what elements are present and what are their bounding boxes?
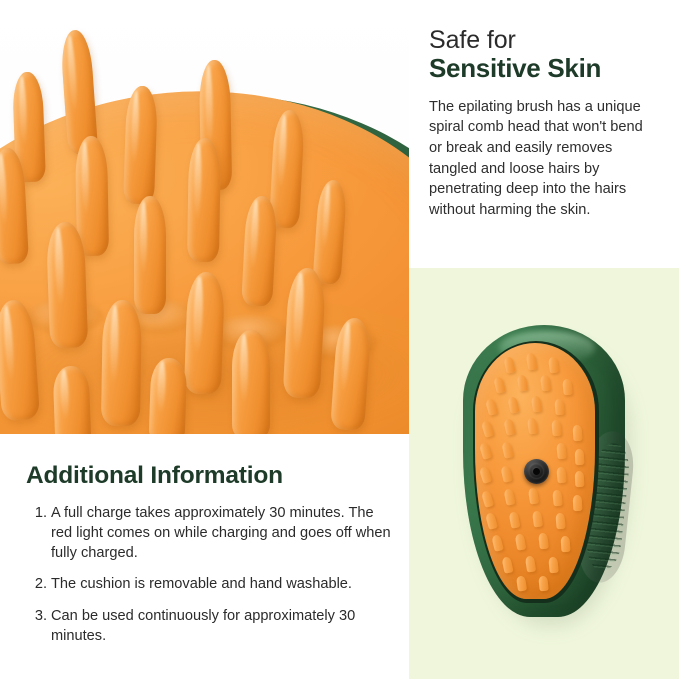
steam-brush-product [463,325,631,625]
bristle [516,575,527,591]
bristle [184,271,225,394]
list-item-number: 3. [26,606,47,626]
bristle [485,512,498,530]
list-item-text: A full charge takes approximately 30 min… [51,505,391,561]
bristle [540,374,551,391]
bristle [503,418,515,436]
bristle [509,511,521,528]
bristle [575,449,585,465]
bristle [562,379,573,396]
bristle [554,399,565,416]
sensitive-skin-panel: Safe for Sensitive Skin The epilating br… [409,0,679,268]
bristle [552,490,563,507]
brush-closeup-photo [0,0,409,434]
list-item-text: Can be used continuously for approximate… [51,608,355,644]
bristle [479,442,493,460]
bristle [551,420,562,437]
bristle [555,513,565,530]
bristle [503,356,515,374]
bristle [538,576,549,592]
bristle [134,196,166,314]
bristle [532,510,543,527]
list-item-number: 2. [26,574,47,594]
bristle [123,85,158,204]
infographic-page: Safe for Sensitive Skin The epilating br… [0,0,679,679]
steam-nozzle [524,459,549,484]
bristle [500,465,512,483]
bristle [527,417,538,434]
bristle [479,466,493,484]
bristle [53,365,92,434]
page-title: Additional Information [26,462,391,490]
bristle [503,488,515,506]
bristle [481,490,494,508]
headline-text: Sensitive Skin [429,54,655,83]
bristle [538,533,549,550]
body-paragraph: The epilating brush has a unique spiral … [429,97,655,221]
list-item: 1. A full charge takes approximately 30 … [26,503,391,563]
list-item: 2. The cushion is removable and hand was… [26,574,391,594]
information-list: 1. A full charge takes approximately 30 … [26,503,391,646]
bristle [507,396,519,414]
bristle [528,487,539,504]
bristle [101,300,142,427]
list-item-number: 1. [26,503,47,523]
list-item: 3. Can be used continuously for approxim… [26,606,391,646]
bristle [481,420,495,438]
bristle [531,395,542,412]
bristle [232,330,270,434]
bristle [573,495,583,511]
bristle [572,425,582,442]
additional-information-panel: Additional Information 1. A full charge … [0,434,409,679]
kicker-text: Safe for [429,27,655,53]
bristle [548,356,559,373]
product-orange-pad [475,343,595,599]
list-item-text: The cushion is removable and hand washab… [51,576,352,592]
bristle [485,398,498,416]
bristle [493,376,506,394]
bristle [526,352,538,370]
bristle [501,441,513,459]
bristle [560,536,570,553]
bristle [525,555,536,572]
bristle [556,443,567,460]
bristle [501,556,513,574]
macro-photo-canvas [0,0,409,434]
bristle [517,374,529,391]
product-photo-stage [409,268,679,679]
product-photo [409,268,679,679]
bristle [548,557,559,574]
bristle [556,467,567,484]
bristle [491,534,504,552]
bristle [575,471,585,487]
bristle [515,533,527,550]
bristle [149,357,188,434]
bristle [187,138,221,263]
